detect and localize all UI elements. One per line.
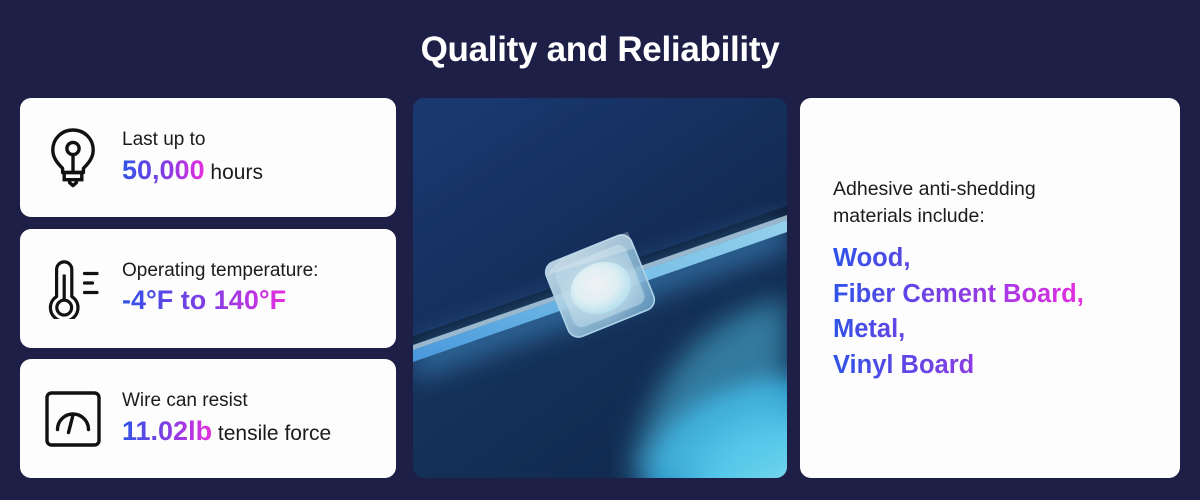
- stat-card-tensile: Wire can resist 11.02lb tensile force: [20, 359, 396, 478]
- infographic-page: Quality and Reliability Last up to 50,00…: [0, 0, 1200, 500]
- stat-value: 50,000: [122, 155, 205, 185]
- list-item: Vinyl Board: [833, 348, 1180, 384]
- list-item: Metal,: [833, 312, 1180, 348]
- stat-text-tensile: Wire can resist 11.02lb tensile force: [122, 389, 331, 448]
- stats-column: Last up to 50,000 hours Operating temper…: [20, 98, 396, 478]
- stat-suffix: hours: [205, 161, 263, 184]
- material-name: Metal,: [833, 315, 905, 343]
- material-name: Vinyl Board: [833, 351, 974, 379]
- stat-label: Operating temperature:: [122, 259, 318, 283]
- stat-value-line: 11.02lb tensile force: [122, 415, 331, 448]
- material-name: Wood,: [833, 244, 910, 272]
- lightbulb-icon: [42, 123, 104, 193]
- product-photo-illustration: [413, 98, 787, 478]
- stat-value: 11.02lb: [122, 416, 212, 446]
- stat-value-line: 50,000 hours: [122, 154, 263, 187]
- gauge-icon: [42, 384, 104, 454]
- stat-suffix: tensile force: [212, 422, 331, 445]
- product-photo: [413, 98, 787, 478]
- list-item: Wood,: [833, 241, 1180, 277]
- materials-card: Adhesive anti-shedding materials include…: [800, 98, 1180, 478]
- stat-label: Last up to: [122, 128, 263, 152]
- stat-value: -4°F to 140°F: [122, 285, 286, 315]
- page-title: Quality and Reliability: [0, 30, 1200, 70]
- stat-text-lifespan: Last up to 50,000 hours: [122, 128, 263, 187]
- stat-text-temperature: Operating temperature: -4°F to 140°F: [122, 259, 318, 318]
- stat-label: Wire can resist: [122, 389, 331, 413]
- stat-card-temperature: Operating temperature: -4°F to 140°F: [20, 229, 396, 348]
- materials-list: Wood, Fiber Cement Board, Metal, Vinyl B…: [833, 241, 1180, 384]
- thermometer-icon: [42, 253, 104, 323]
- materials-intro: Adhesive anti-shedding materials include…: [833, 176, 1083, 229]
- material-name: Fiber Cement Board,: [833, 280, 1084, 308]
- stat-card-lifespan: Last up to 50,000 hours: [20, 98, 396, 217]
- stat-value-line: -4°F to 140°F: [122, 284, 318, 317]
- list-item: Fiber Cement Board,: [833, 277, 1180, 313]
